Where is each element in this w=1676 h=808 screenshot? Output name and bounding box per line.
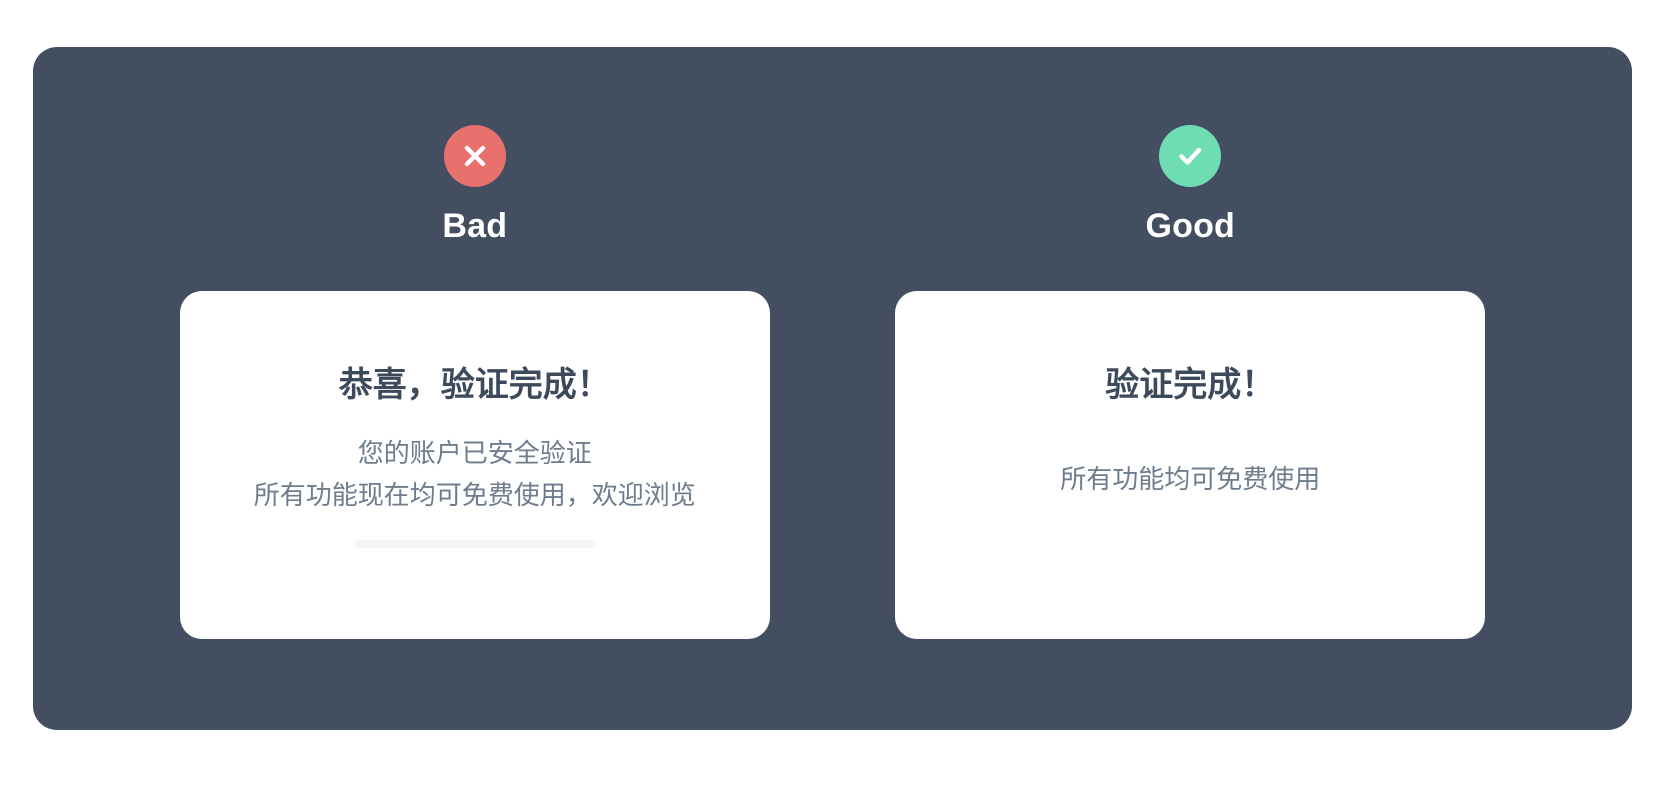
check-circle-icon [1159,125,1221,187]
example-card-good: 验证完成！ 所有功能均可免费使用 [895,291,1485,639]
comparison-column-bad: Bad 恭喜，验证完成！ 您的账户已安全验证 所有功能现在均可免费使用，欢迎浏览 [117,125,833,639]
comparison-columns: Bad 恭喜，验证完成！ 您的账户已安全验证 所有功能现在均可免费使用，欢迎浏览… [33,47,1632,730]
comparison-column-good: Good 验证完成！ 所有功能均可免费使用 [833,125,1549,639]
card-body-good: 所有功能均可免费使用 [1060,458,1320,500]
verdict-label-good: Good [1145,209,1235,243]
dark-panel: Bad 恭喜，验证完成！ 您的账户已安全验证 所有功能现在均可免费使用，欢迎浏览… [33,47,1632,730]
comparison-figure: Bad 恭喜，验证完成！ 您的账户已安全验证 所有功能现在均可免费使用，欢迎浏览… [0,0,1676,808]
example-card-bad: 恭喜，验证完成！ 您的账户已安全验证 所有功能现在均可免费使用，欢迎浏览 [180,291,770,639]
card-heading-bad: 恭喜，验证完成！ [339,365,611,406]
card-heading-good: 验证完成！ [1105,365,1275,406]
card-body-bad: 您的账户已安全验证 所有功能现在均可免费使用，欢迎浏览 [254,432,696,516]
verdict-label-bad: Bad [442,209,507,243]
card-ghost-line [354,540,596,548]
x-circle-icon [444,125,506,187]
